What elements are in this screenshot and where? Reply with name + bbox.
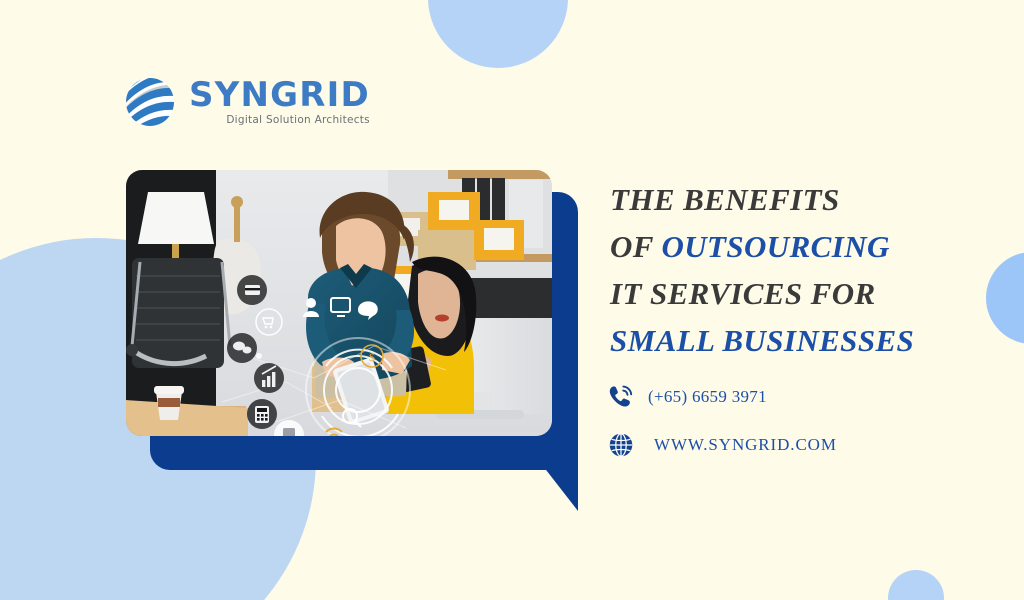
contact-phone[interactable]: (+65) 6659 3971 [608, 380, 837, 414]
headline-line-2: OF OUTSOURCING [610, 223, 1010, 270]
blue-bubble-tail [512, 425, 578, 511]
website-url: WWW.SYNGRID.COM [654, 435, 837, 455]
headline: THE BENEFITS OF OUTSOURCING IT SERVICES … [610, 176, 1010, 364]
decorative-circle-bottom-right [888, 570, 944, 600]
phone-number: (+65) 6659 3971 [648, 387, 767, 407]
brand-logo[interactable]: SYNGRID Digital Solution Architects [124, 76, 370, 128]
brand-name: SYNGRID [189, 78, 370, 113]
svg-text:$: $ [369, 350, 375, 364]
headline-line-1: THE BENEFITS [610, 176, 1010, 223]
hero-photo: $ [126, 170, 552, 436]
globe-stripes-icon [124, 76, 176, 128]
globe-icon [608, 432, 634, 458]
headline-line-3: IT SERVICES FOR [610, 270, 1010, 317]
hero-photo-illustration: $ [126, 170, 552, 436]
brand-tagline: Digital Solution Architects [189, 114, 370, 126]
headline-line-2-prefix: OF [610, 229, 661, 264]
banner-canvas: SYNGRID Digital Solution Architects [0, 0, 1024, 600]
contact-website[interactable]: WWW.SYNGRID.COM [608, 428, 837, 462]
phone-icon [608, 384, 634, 410]
headline-highlight-outsourcing: OUTSOURCING [661, 229, 889, 264]
decorative-circle-top [428, 0, 568, 68]
headline-highlight-small-businesses: SMALL BUSINESSES [610, 317, 1010, 364]
contact-block: (+65) 6659 3971 WWW.SYNGRID.COM [608, 380, 837, 476]
